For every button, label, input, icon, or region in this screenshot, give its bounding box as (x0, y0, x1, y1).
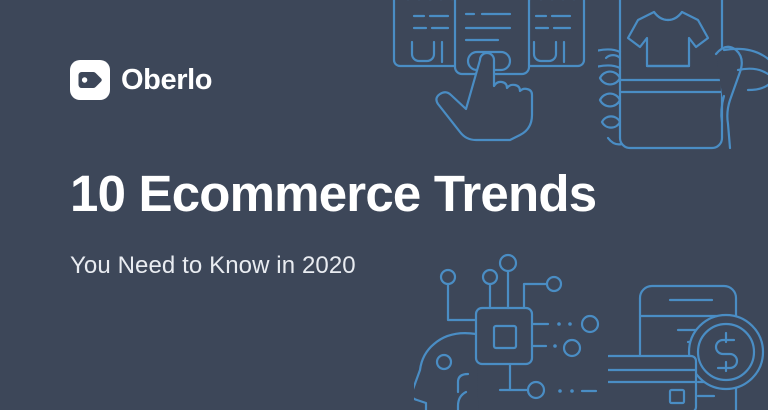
card-left (394, 0, 462, 66)
dollar-coin-icon (689, 315, 763, 389)
tshirt-icon (628, 12, 708, 66)
human-head-profile-icon (414, 333, 479, 410)
microchip-icon (476, 308, 532, 364)
logo-mark (70, 60, 110, 100)
price-tag-icon (77, 70, 103, 90)
card-center (455, 0, 529, 74)
fingers-icon (598, 49, 622, 144)
pointing-hand-icon (436, 53, 532, 140)
page-subtitle: You Need to Know in 2020 (70, 219, 596, 278)
headline-block: 10 Ecommerce Trends You Need to Know in … (70, 168, 596, 278)
thumb-icon (716, 47, 742, 148)
smartphone-icon (620, 0, 722, 148)
arm-icon (724, 49, 768, 90)
circuit-nodes-right (500, 316, 598, 398)
phone-tshirt-illustration (598, 0, 768, 152)
card-right (516, 0, 584, 66)
product-cards-tap-illustration (392, 0, 592, 146)
page-title: 10 Ecommerce Trends (70, 168, 596, 219)
brand-name: Oberlo (121, 66, 212, 95)
brand-logo[interactable]: Oberlo (70, 60, 212, 100)
credit-card-icon (608, 356, 696, 410)
mobile-payment-illustration (608, 278, 768, 410)
oberlo-ecommerce-trends-banner: Oberlo 10 Ecommerce Trends You Need to K… (0, 0, 768, 410)
smartphone-icon (640, 286, 736, 410)
